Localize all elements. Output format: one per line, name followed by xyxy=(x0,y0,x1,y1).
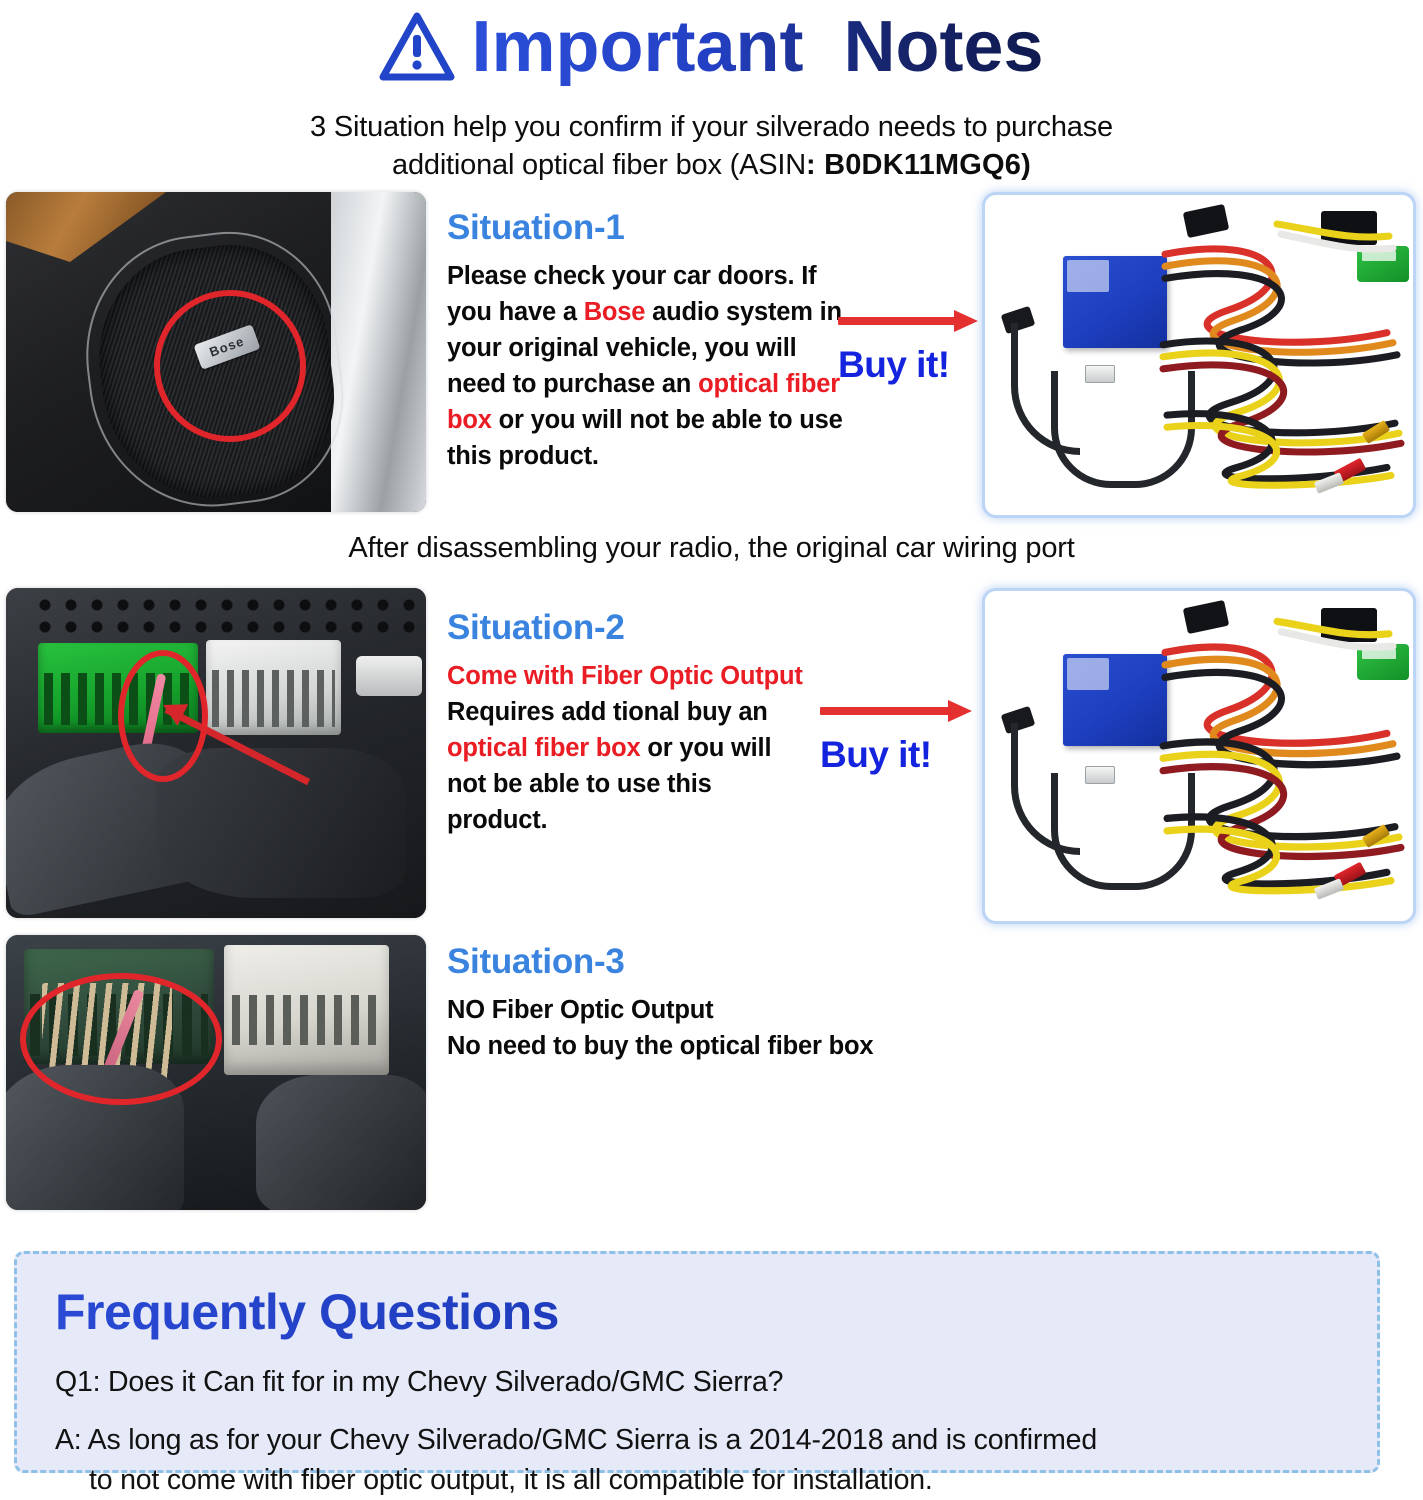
antenna-connector xyxy=(356,656,422,696)
warning-triangle-icon xyxy=(379,11,455,83)
s2-highlight-fiberbox: optical fiber box xyxy=(447,734,641,762)
white-connector-pins xyxy=(212,670,335,727)
situation-2-body: Come with Fiber Optic Output Requires ad… xyxy=(447,658,807,838)
wire-loom-right xyxy=(256,1075,426,1210)
buy-it-group-2: Buy it! xyxy=(820,700,985,776)
no-fiber-optic-photo xyxy=(6,935,426,1210)
s1-highlight-bose: Bose xyxy=(584,298,646,326)
red-highlight-ellipse xyxy=(20,973,222,1105)
wiring-port-photo xyxy=(6,588,426,918)
arrow-bar xyxy=(838,317,956,325)
red-right-arrow-icon xyxy=(838,310,988,332)
arrow-tip xyxy=(948,700,972,722)
white-connector xyxy=(206,640,341,735)
faq-answer-line-2: to not come with fiber optic output, it … xyxy=(55,1460,1339,1500)
red-highlight-circle xyxy=(154,290,306,442)
wire-bundle xyxy=(1157,611,1407,901)
situation-3-body: NO Fiber Optic Output No need to buy the… xyxy=(447,992,967,1064)
faq-answer: A: As long as for your Chevy Silverado/G… xyxy=(55,1420,1339,1500)
optical-fiber-box-harness xyxy=(985,195,1413,515)
title-row: Important Notes xyxy=(0,2,1423,92)
situation-3-block: Situation-3 NO Fiber Optic Output No nee… xyxy=(447,940,967,1064)
buy-it-group-1: Buy it! xyxy=(838,310,988,386)
s2-highlight-fiberoutput: Come with Fiber Optic Output xyxy=(447,662,803,690)
s3-line-2: No need to buy the optical fiber box xyxy=(447,1028,967,1064)
door-pillar xyxy=(331,192,426,512)
page-subtitle: 3 Situation help you confirm if your sil… xyxy=(0,108,1423,184)
situation-1-body: Please check your car doors. If you have… xyxy=(447,258,847,474)
white-connector xyxy=(224,945,389,1075)
faq-question: Q1: Does it Can fit for in my Chevy Silv… xyxy=(55,1362,1339,1402)
page-title: Important Notes xyxy=(471,7,1043,87)
situation-2-title: Situation-2 xyxy=(447,606,807,650)
optical-fiber-box-harness xyxy=(985,591,1413,921)
arrow-tip xyxy=(954,310,978,332)
red-highlight-ellipse xyxy=(118,650,208,782)
buy-it-label-2: Buy it! xyxy=(820,734,985,776)
asin-code: : B0DK11MGQ6) xyxy=(806,149,1031,181)
subtitle-line-2-text: additional optical fiber box (ASIN xyxy=(392,149,806,181)
situation-2-block: Situation-2 Come with Fiber Optic Output… xyxy=(447,606,807,838)
faq-answer-line-1: A: As long as for your Chevy Silverado/G… xyxy=(55,1424,1097,1456)
product-image-panel-2 xyxy=(982,588,1416,924)
subtitle-line-2: additional optical fiber box (ASIN: B0DK… xyxy=(0,146,1423,184)
buy-it-label-1: Buy it! xyxy=(838,344,988,386)
door-speaker-photo: Bose xyxy=(6,192,426,512)
situation-1-block: Situation-1 Please check your car doors.… xyxy=(447,206,847,474)
s1-text-c: or you will not be able to use this prod… xyxy=(447,406,843,470)
situation-1-title: Situation-1 xyxy=(447,206,847,250)
subtitle-line-1: 3 Situation help you confirm if your sil… xyxy=(0,108,1423,146)
mid-caption: After disassembling your radio, the orig… xyxy=(0,528,1423,568)
wire-bundle xyxy=(1157,214,1407,496)
vent-holes xyxy=(36,596,416,640)
situation-3-title: Situation-3 xyxy=(447,940,967,984)
s2-text-a: Requires add tional buy an xyxy=(447,698,768,726)
red-right-arrow-icon xyxy=(820,700,985,722)
product-image-panel-1 xyxy=(982,192,1416,518)
white-connector-pins xyxy=(232,995,381,1045)
s3-line-1: NO Fiber Optic Output xyxy=(447,992,967,1028)
header: Important Notes 3 Situation help you con… xyxy=(0,0,1423,185)
faq-title: Frequently Questions xyxy=(55,1282,1339,1342)
faq-box: Frequently Questions Q1: Does it Can fit… xyxy=(14,1251,1380,1473)
arrow-bar xyxy=(820,707,950,715)
